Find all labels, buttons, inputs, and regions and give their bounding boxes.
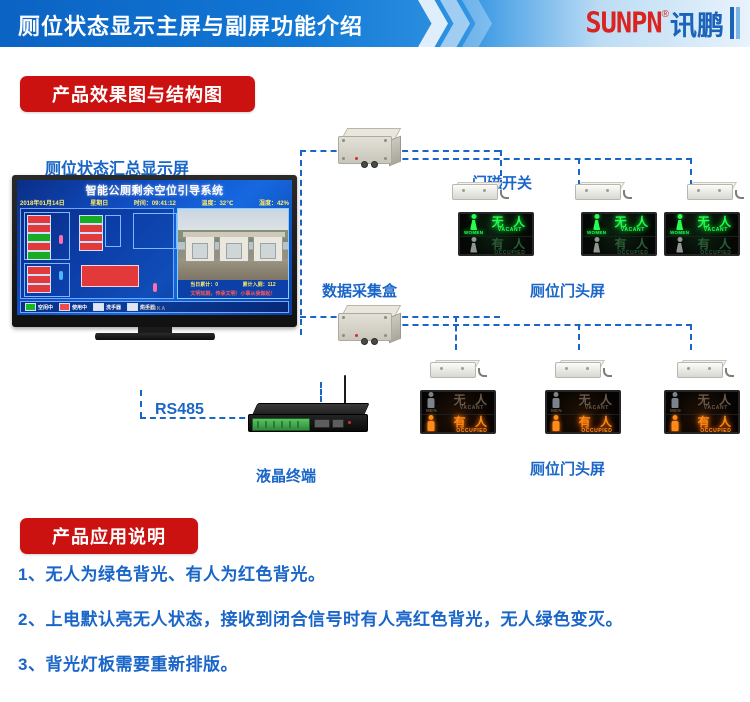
women-figure-dim-icon: WOMEN (464, 237, 483, 257)
usage-notes-list: 1、无人为绿色背光、有人为红色背光。 2、上电默认亮无人状态，接收到闭合信号时有… (0, 560, 750, 695)
sign-text-occupied: 有 人 OCCUPIED (492, 238, 528, 256)
sign-row-occupied: WOMEN 有 人 OCCUPIED (666, 236, 738, 257)
tv-screen: 智能公厕剩余空位引导系统 2018年01月14日 星期日 时间：09:41:12… (17, 180, 292, 315)
rs485-label: RS485 (155, 401, 204, 419)
sign-row-vacant: WOMEN 无 人 VACANT (460, 214, 532, 236)
brand-logo: SUNPN ® 讯鹏 (585, 6, 740, 40)
data-collection-box-top (338, 128, 400, 168)
photo-hut-2 (219, 235, 250, 261)
floorplan-stall (27, 266, 51, 275)
sign-row-occupied: WOMEN 有 人 OCCUPIED (583, 236, 655, 257)
product-structure-diagram: 厕位状态汇总显示屏 智能公厕剩余空位引导系统 2018年01月14日 星期日 时… (0, 120, 750, 505)
door-magnetic-sensor-4 (430, 360, 486, 380)
section-title-usage: 产品应用说明 (20, 518, 198, 554)
sign-row-occupied: WOMEN 有 人 OCCUPIED (460, 236, 532, 257)
usage-note-1: 1、无人为绿色背光、有人为红色背光。 (18, 560, 750, 585)
door-sign-women-2: WOMEN 无 人 VACANT WOMEN 有 人 OCCUPIED (581, 212, 657, 256)
women-figure-dim-icon: WOMEN (587, 237, 606, 257)
screen-body: 当日累计：0 累计入厕：112 文明如厕，传承文明！小事从我做起！ (20, 208, 289, 299)
floorplan-stall (27, 233, 51, 242)
screen-photo-panel: 当日累计：0 累计入厕：112 文明如厕，传承文明！小事从我做起！ (177, 208, 289, 299)
floorplan-stall (79, 233, 103, 242)
terminal-usb-port (332, 419, 344, 428)
sign-text-occupied: 有 人 OCCUPIED (698, 238, 734, 256)
floorplan-sink-area (105, 215, 121, 247)
floorplan-stall (79, 242, 103, 251)
data-box-label: 数据采集盒 (322, 280, 397, 301)
floorplan-figure-male (59, 271, 63, 280)
terminal-vga-port (314, 419, 330, 428)
tv-brand-label: KONKA (17, 306, 292, 312)
screen-time: 时间：09:41:12 (134, 198, 176, 207)
door-magnetic-sensor-5 (555, 360, 611, 380)
photo-ground (178, 259, 288, 280)
screen-info-bar: 2018年01月14日 星期日 时间：09:41:12 温度：32℃ 湿度：42… (20, 198, 289, 207)
connector-terminal-v (320, 382, 322, 402)
sign-text-vacant: 无 人 VACANT (579, 394, 615, 412)
door-sign-label-bottom: 厕位门头屏 (530, 458, 605, 479)
door-sign-women-3: WOMEN 无 人 VACANT WOMEN 有 人 OCCUPIED (664, 212, 740, 256)
sign-text-occupied: 有 人 OCCUPIED (579, 416, 615, 434)
connector-bottom-v-s1 (455, 316, 457, 350)
connector-bottom-v-s3 (690, 324, 692, 350)
sign-row-vacant: MEN 无 人 VACANT (666, 392, 738, 414)
chevron-accent-1 (418, 0, 448, 47)
screen-stats-bar: 当日累计：0 累计入厕：112 (178, 280, 288, 289)
screen-title: 智能公厕剩余空位引导系统 (17, 182, 292, 198)
screen-humidity: 湿度：42% (259, 198, 289, 207)
floorplan-stall (79, 224, 103, 233)
photo-hut-1 (185, 235, 216, 261)
sign-text-vacant: 无 人 VACANT (698, 216, 734, 234)
tv-bezel: 智能公厕剩余空位引导系统 2018年01月14日 星期日 时间：09:41:12… (12, 175, 297, 327)
door-sign-women-1: WOMEN 无 人 VACANT WOMEN 有 人 OCCUPIED (458, 212, 534, 256)
connector-top-h2 (372, 158, 692, 160)
usage-note-2: 2、上电默认亮无人状态，接收到闭合信号时有人亮红色背光，无人绿色变灭。 (18, 605, 750, 630)
floorplan-figure-female-2 (153, 283, 157, 292)
section-title-structure: 产品效果图与结构图 (20, 76, 255, 112)
sign-row-vacant: MEN 无 人 VACANT (547, 392, 619, 414)
logo-bars-decoration (730, 7, 740, 39)
door-sign-men-2: MEN 无 人 VACANT MEN 有 人 OCCUPIED (545, 390, 621, 434)
connector-left-trunk (300, 150, 302, 335)
floorplan-stall (27, 224, 51, 233)
floorplan-stall (27, 251, 51, 260)
sign-row-vacant: WOMEN 无 人 VACANT (666, 214, 738, 236)
photo-hut-3 (253, 235, 284, 261)
men-figure-lit-icon: MEN (670, 415, 681, 435)
door-sign-men-3: MEN 无 人 VACANT MEN 有 人 OCCUPIED (664, 390, 740, 434)
stats-total: 累计入厕：112 (243, 281, 276, 288)
screen-temperature: 温度：32℃ (201, 198, 233, 207)
sign-text-vacant: 无 人 VACANT (454, 394, 490, 412)
logo-wordmark: SUNPN (585, 9, 661, 37)
sign-text-occupied: 有 人 OCCUPIED (454, 416, 490, 434)
sign-text-vacant: 无 人 VACANT (615, 216, 651, 234)
floorplan-accessible-stall (81, 265, 139, 287)
screen-slogan: 文明如厕，传承文明！小事从我做起！ (178, 289, 288, 298)
terminal-power-led (348, 421, 351, 424)
usage-note-3: 3、背光灯板需要重新排版。 (18, 650, 750, 675)
terminal-label: 液晶终端 (256, 465, 316, 486)
door-magnetic-sensor-6 (677, 360, 733, 380)
men-figure-dim-icon: MEN (670, 392, 681, 414)
connector-bottom-v-s2 (578, 324, 580, 350)
terminal-antenna (344, 375, 346, 405)
door-sign-men-1: MEN 无 人 VACANT MEN 有 人 OCCUPIED (420, 390, 496, 434)
floorplan-stall (27, 284, 51, 293)
screen-date: 2018年01月14日 (20, 198, 65, 207)
floorplan-urinal-area (133, 213, 177, 249)
door-magnetic-sensor-1 (452, 182, 508, 202)
connector-bottom-h2 (372, 324, 692, 326)
data-collection-box-bottom (338, 305, 400, 345)
door-magnetic-sensor-2 (575, 182, 631, 202)
logo-chinese-name: 讯鹏 (670, 4, 724, 43)
women-figure-lit-icon: WOMEN (464, 214, 483, 236)
page-title: 厕位状态显示主屏与副屏功能介绍 (18, 9, 363, 41)
men-figure-lit-icon: MEN (426, 415, 437, 435)
sign-text-vacant: 无 人 VACANT (698, 394, 734, 412)
men-figure-dim-icon: MEN (551, 392, 562, 414)
sign-text-occupied: 有 人 OCCUPIED (615, 238, 651, 256)
women-figure-lit-icon: WOMEN (670, 214, 689, 236)
sign-text-vacant: 无 人 VACANT (492, 216, 528, 234)
floorplan-stall (27, 275, 51, 284)
sign-row-occupied: MEN 有 人 OCCUPIED (666, 414, 738, 435)
terminal-green-connector (252, 418, 310, 431)
men-figure-lit-icon: MEN (551, 415, 562, 435)
sign-row-occupied: MEN 有 人 OCCUPIED (547, 414, 619, 435)
screen-weekday: 星期日 (90, 198, 108, 207)
sign-text-occupied: 有 人 OCCUPIED (698, 416, 734, 434)
floorplan-stall (27, 242, 51, 251)
men-figure-dim-icon: MEN (426, 392, 437, 414)
sign-row-vacant: MEN 无 人 VACANT (422, 392, 494, 414)
connector-rs485-v (140, 390, 142, 418)
women-figure-dim-icon: WOMEN (670, 237, 689, 257)
tv-stand-base (95, 333, 215, 340)
registered-mark-icon: ® (662, 9, 669, 20)
sign-row-occupied: MEN 有 人 OCCUPIED (422, 414, 494, 435)
women-figure-lit-icon: WOMEN (587, 214, 606, 236)
door-magnetic-sensor-3 (687, 182, 743, 202)
screen-floorplan (20, 208, 174, 299)
sign-row-vacant: WOMEN 无 人 VACANT (583, 214, 655, 236)
door-sign-label-top: 厕位门头屏 (530, 280, 605, 301)
page-header-banner: 厕位状态显示主屏与副屏功能介绍 SUNPN ® 讯鹏 (0, 0, 750, 47)
lcd-terminal-device (248, 403, 370, 441)
stats-today: 当日累计：0 (190, 281, 218, 288)
toilet-building-photo (178, 209, 288, 280)
summary-display-tv: 智能公厕剩余空位引导系统 2018年01月14日 星期日 时间：09:41:12… (12, 175, 297, 340)
floorplan-stall (27, 215, 51, 224)
floorplan-stall (79, 215, 103, 224)
floorplan-figure-female (59, 235, 63, 244)
